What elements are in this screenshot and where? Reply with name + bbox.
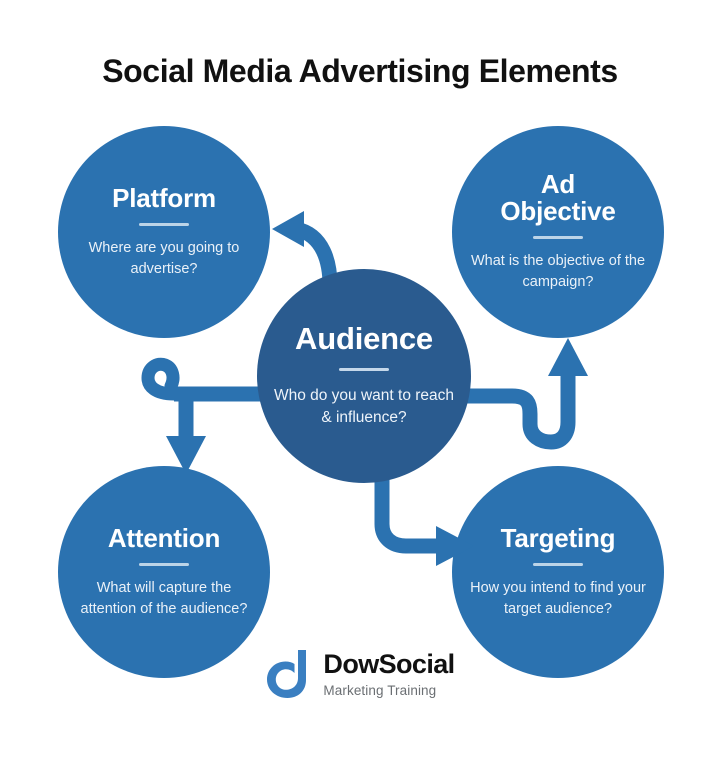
node-audience-description: Who do you want to reach & influence?: [273, 385, 455, 429]
node-audience-title: Audience: [295, 323, 433, 355]
node-audience-divider: [339, 368, 389, 371]
brand-logo: DowSocial Marketing Training: [0, 648, 720, 700]
logo-name: DowSocial: [323, 651, 454, 678]
connector-audience-to-attention: [148, 364, 268, 474]
connector-audience-to-ad-objective: [466, 338, 588, 442]
infographic-canvas: Social Media Advertising Elements Platfo: [0, 0, 720, 766]
dowsocial-d-icon: [265, 648, 311, 700]
connector-audience-to-targeting: [382, 466, 474, 566]
logo-tagline: Marketing Training: [323, 684, 436, 698]
node-audience[interactable]: Audience Who do you want to reach & infl…: [257, 269, 471, 483]
logo-text-block: DowSocial Marketing Training: [323, 651, 454, 698]
